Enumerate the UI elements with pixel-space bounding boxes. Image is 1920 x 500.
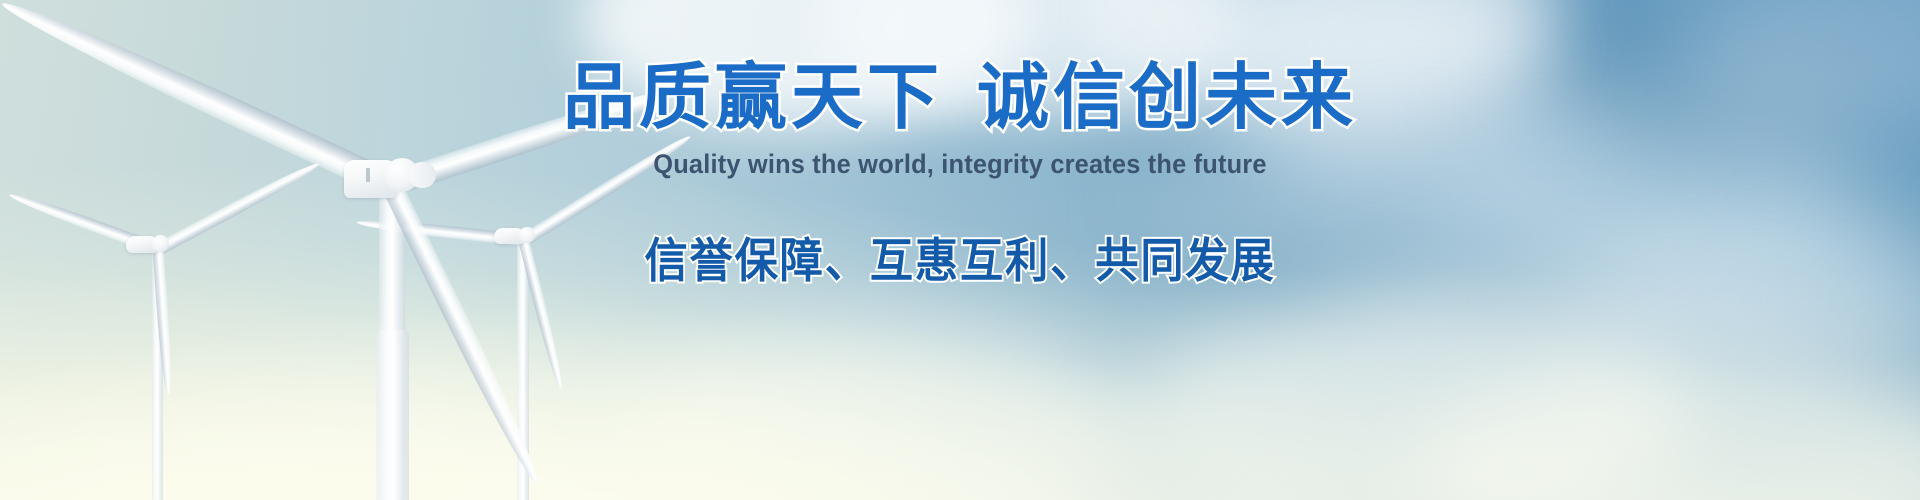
banner-tagline-chinese: 信誉保障、互惠互利、共同发展 xyxy=(77,222,1843,291)
turbine-tower-base xyxy=(376,330,409,500)
headline-part-2: 诚信创未来 xyxy=(977,55,1357,139)
banner-text-block: 品质赢天下诚信创未来 Quality wins the world, integ… xyxy=(0,60,1920,291)
banner-headline: 品质赢天下诚信创未来 xyxy=(0,60,1920,135)
headline-part-1: 品质赢天下 xyxy=(563,55,943,139)
promo-banner: 品质赢天下诚信创未来 Quality wins the world, integ… xyxy=(0,0,1920,500)
banner-subline-english: Quality wins the world, integrity create… xyxy=(58,149,1863,180)
